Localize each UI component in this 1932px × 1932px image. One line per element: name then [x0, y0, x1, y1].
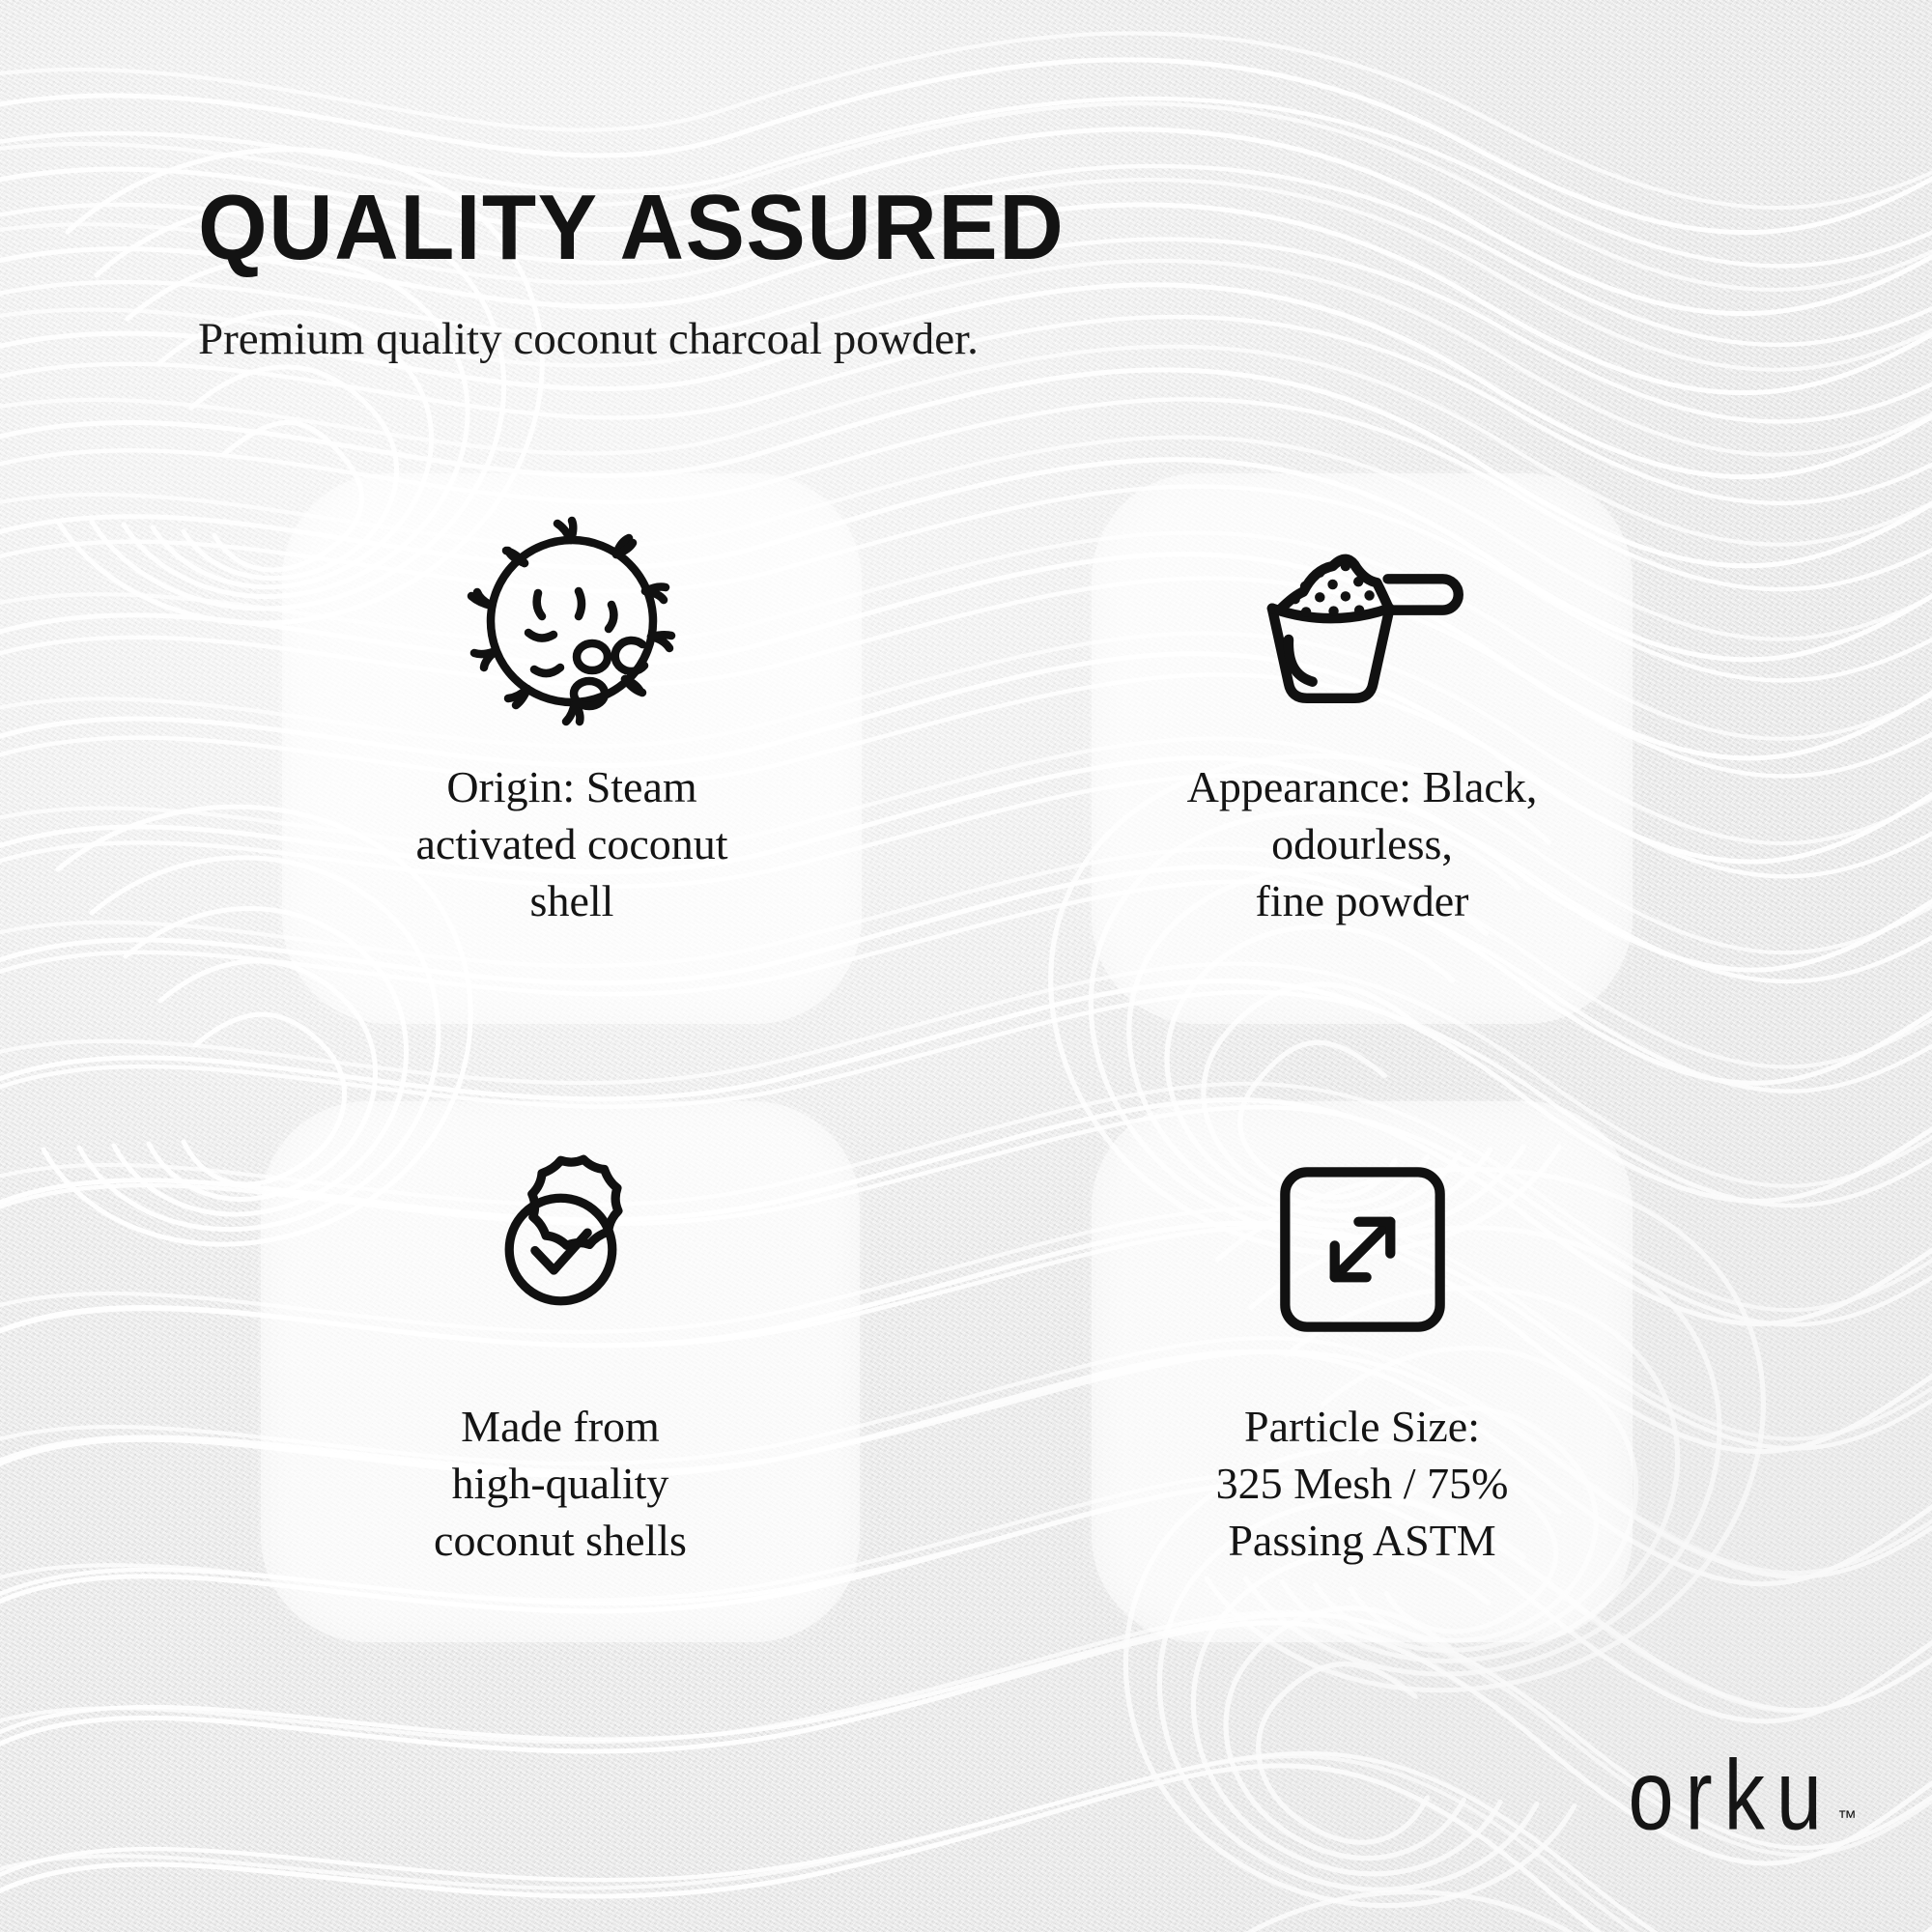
brand-logo: orku ™ — [1610, 1759, 1857, 1843]
page-subtitle: Premium quality coconut charcoal powder. — [198, 312, 979, 366]
feature-card-origin-text: Origin: Steam activated coconut shell — [390, 759, 753, 930]
feature-card-origin: Origin: Steam activated coconut shell — [282, 473, 862, 1024]
feature-card-particle-size-text: Particle Size: 325 Mesh / 75% Passing AS… — [1191, 1399, 1534, 1570]
feature-card-appearance: Appearance: Black, odourless, fine powde… — [1092, 473, 1633, 1024]
feature-card-appearance-text: Appearance: Black, odourless, fine powde… — [1162, 759, 1563, 930]
page-title: QUALITY ASSURED — [198, 182, 1065, 274]
particle-size-resize-icon — [1273, 1128, 1452, 1370]
coconut-particle-icon — [461, 500, 683, 742]
quality-check-badge-icon — [462, 1128, 660, 1370]
brand-trademark-symbol: ™ — [1837, 1807, 1857, 1830]
feature-card-grid: Origin: Steam activated coconut shell — [241, 473, 1652, 1662]
feature-card-quality: Made from high-quality coconut shells — [261, 1101, 860, 1642]
feature-card-quality-text: Made from high-quality coconut shells — [409, 1399, 712, 1570]
feature-card-particle-size: Particle Size: 325 Mesh / 75% Passing AS… — [1092, 1101, 1633, 1642]
brand-logo-wordmark: orku — [1629, 1748, 1833, 1843]
content-layer: QUALITY ASSURED Premium quality coconut … — [0, 0, 1932, 1932]
poster-canvas: QUALITY ASSURED Premium quality coconut … — [0, 0, 1932, 1932]
measuring-scoop-powder-icon — [1251, 500, 1473, 742]
